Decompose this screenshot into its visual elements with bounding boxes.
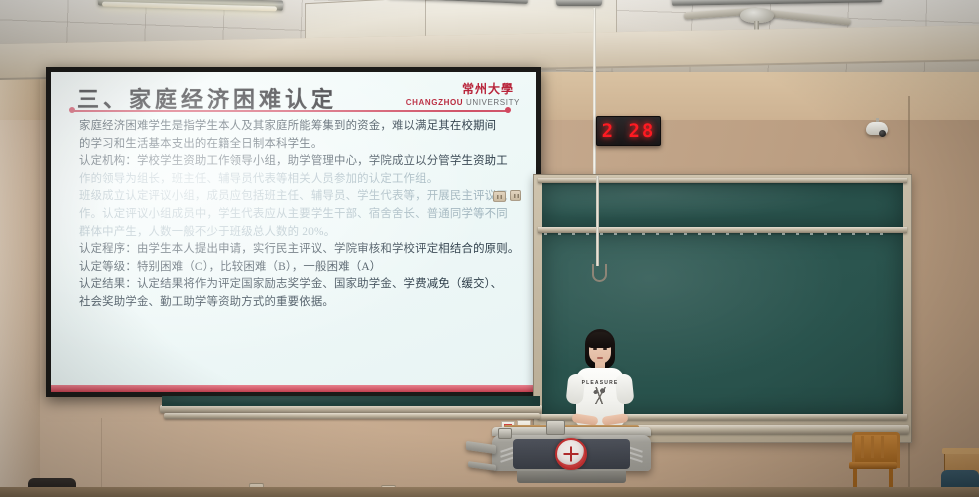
- university-logo-english-rest: UNIVERSITY: [463, 98, 520, 107]
- slide-line: 认定等级：特别困难（C），比较困难（B），一般困难（A）: [79, 259, 516, 277]
- hanging-cable: [593, 8, 596, 188]
- presenter-mouth: [597, 357, 603, 359]
- slide-body: 家庭经济困难学生是指学生本人及其家庭所能筹集到的资金，难以满足其在校期间 的学习…: [79, 118, 516, 312]
- projection-screen-surface: 三、家庭经济困难认定 常州大學 CHANGZHOU UNIVERSITY 家庭经…: [51, 72, 536, 392]
- slide-line: 认定结果：认定结果将作为评定国家励志奖学金、国家助学金、学费减免（缓交）、: [79, 276, 516, 294]
- desk-top: [942, 448, 979, 454]
- presenter-sleeve-right: [614, 373, 634, 405]
- left-board-tray: [160, 405, 542, 413]
- podium-body: [492, 435, 651, 471]
- wall-outlet-screen-right[interactable]: [493, 191, 506, 202]
- floor: [0, 487, 979, 497]
- presenter-sleeve-left: [565, 373, 585, 405]
- slide-line: 的学习和生活基本支出的在籍全日制本科学生。: [79, 136, 516, 154]
- slide-line: 作的领导为组长，班主任、辅导员代表等相关人员参加的认定工作组。: [79, 171, 516, 189]
- presenter-eye-left: [593, 348, 597, 350]
- blackboard-pull-cord[interactable]: [596, 176, 599, 266]
- wall-outlet-upper[interactable]: [510, 190, 521, 201]
- wall-seam-lower-left: [101, 418, 102, 497]
- presentation-slide: 三、家庭经济困难认定 常州大學 CHANGZHOU UNIVERSITY 家庭经…: [51, 72, 536, 392]
- chair-slat: [861, 436, 864, 458]
- podium-control-monitor[interactable]: [546, 420, 565, 435]
- blackboard-cord-hook[interactable]: [592, 264, 607, 282]
- slide-line: 家庭经济困难学生是指学生本人及其家庭所能筹集到的资金，难以满足其在校期间: [79, 118, 516, 136]
- university-logo-chinese: 常州大學: [462, 80, 514, 97]
- left-board-tray-lower: [164, 413, 540, 419]
- changzhou-university-emblem-icon: [555, 438, 587, 470]
- presenter: PLEASURE: [577, 329, 623, 439]
- slide-line: 班级成立认定评议小组，成员应包括班主任、辅导员、学生代表等，开展民主评议工: [79, 188, 516, 206]
- classroom-scene: 三、家庭经济困难认定 常州大學 CHANGZHOU UNIVERSITY 家庭经…: [0, 0, 979, 497]
- chair-slat: [881, 436, 884, 458]
- chair-seat: [849, 462, 897, 469]
- presenter-eye-right: [603, 348, 607, 350]
- podium-document-camera[interactable]: [498, 428, 512, 439]
- camera-lens-icon: [879, 130, 886, 137]
- slide-line: 认定程序：由学生本人提出申请，实行民主评议、学院审核和学校评定相结合的原则。: [79, 241, 516, 259]
- university-logo-english: CHANGZHOU UNIVERSITY: [406, 98, 520, 107]
- podium-base: [517, 471, 625, 483]
- slide-line: 社会奖助学金、勤工助学等资助方式的重要依据。: [79, 294, 516, 312]
- ceiling-projector: [556, 0, 602, 6]
- slide-line: 作。认定评议小组成员中，学生代表应从主要学生干部、宿舍舍长、普通同学等不同: [79, 206, 516, 224]
- slide-footer-bar: [51, 385, 536, 392]
- slide-title-dot-left: [69, 107, 75, 113]
- presenter-shirt-text: PLEASURE: [582, 380, 619, 386]
- presenter-shirt-graphic: [589, 387, 611, 404]
- blackboard-rail-top: [538, 178, 907, 183]
- projection-screen[interactable]: 三、家庭经济困难认定 常州大學 CHANGZHOU UNIVERSITY 家庭经…: [46, 67, 541, 397]
- slide-line: 认定机构：学校学生资助工作领导小组，助学管理中心，学院成立以分管学生资助工: [79, 153, 516, 171]
- presenter-hair-fringe: [587, 332, 614, 348]
- wall-column-left: [0, 70, 40, 497]
- university-logo-english-bold: CHANGZHOU: [406, 98, 463, 107]
- podium-front-panel: [513, 439, 631, 469]
- digital-clock: 2 28: [596, 116, 661, 146]
- slide-title-underline: [73, 110, 507, 112]
- left-board-strip: [162, 396, 540, 406]
- slide-title-dot-right: [505, 107, 511, 113]
- clock-digits: 2 28: [602, 122, 656, 141]
- chair-slat: [871, 436, 874, 458]
- slide-line: 群体中产生，人数一般不少于班级总人数的 20%。: [79, 224, 516, 242]
